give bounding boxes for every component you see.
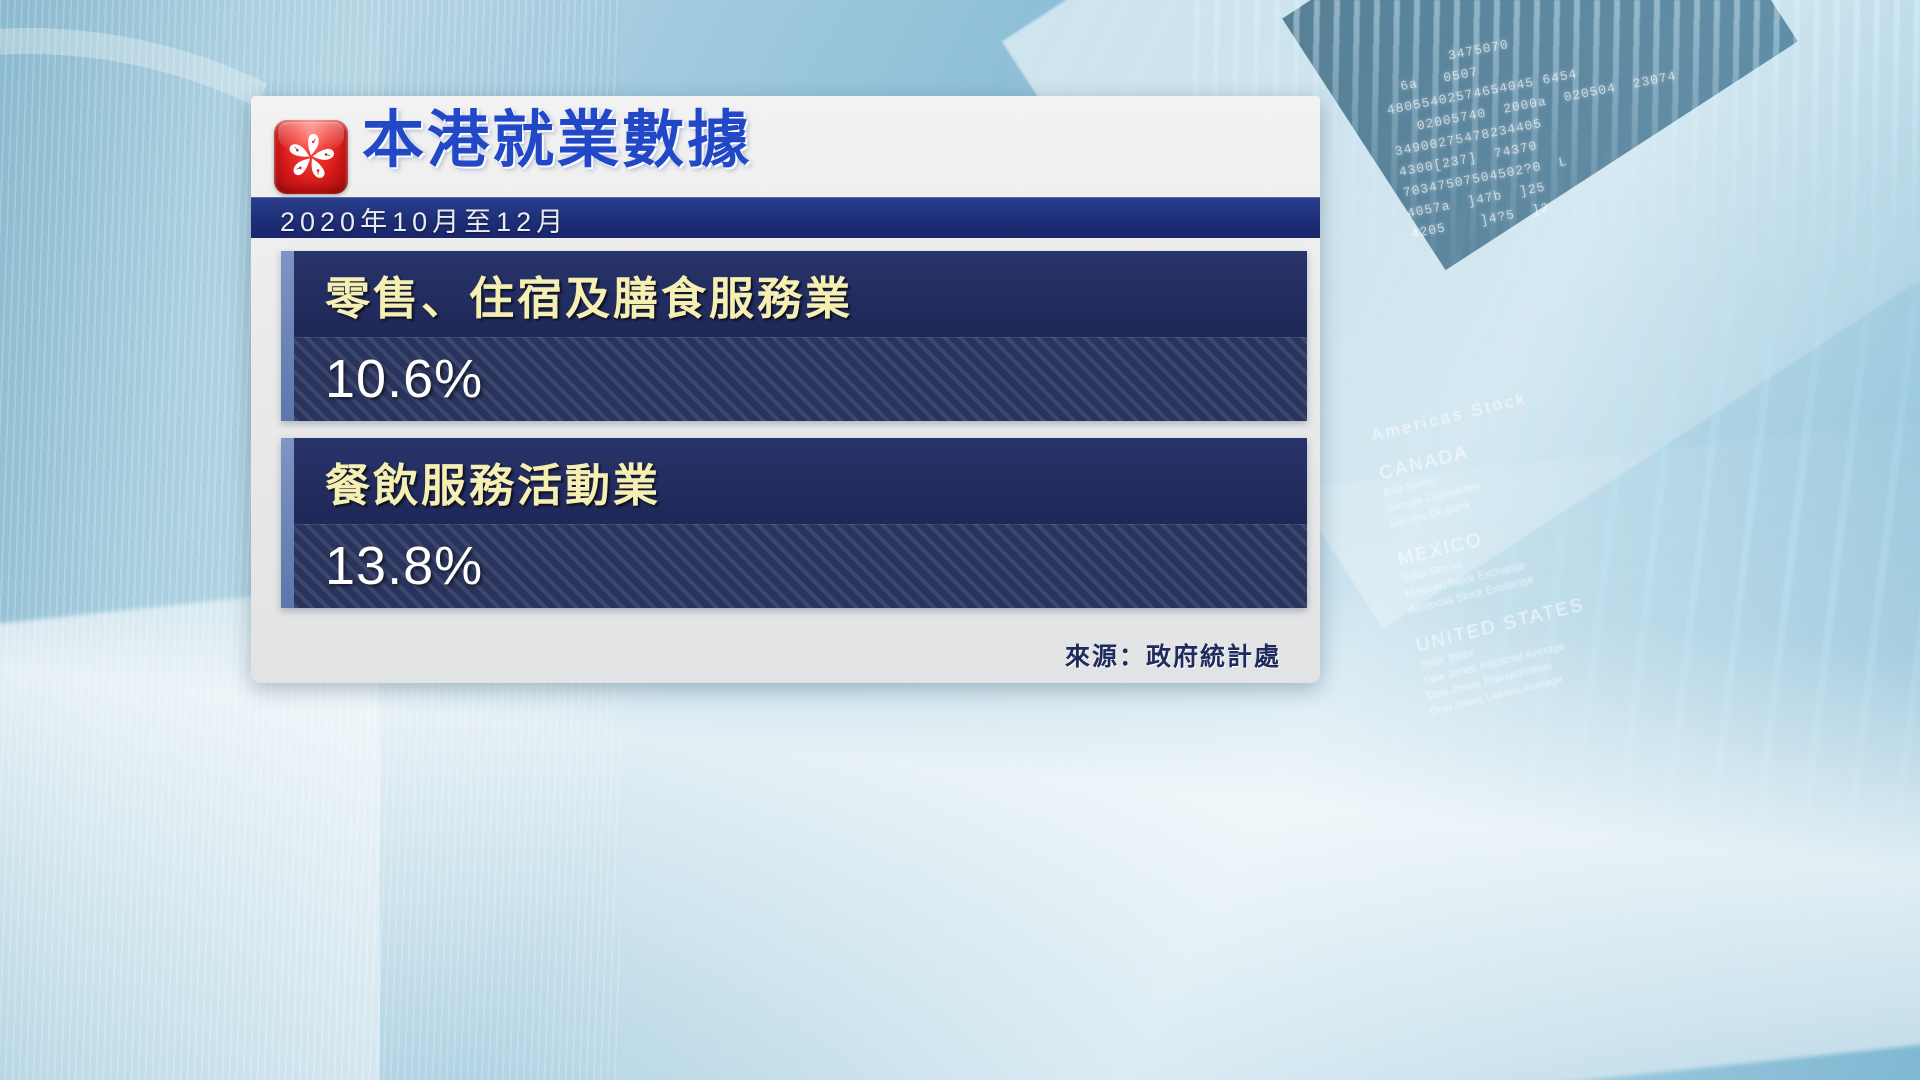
statistics-card: 本港就業數據 2020年10月至12月 零售、住宿及膳食服務業 10.6% 餐飲…: [251, 96, 1320, 683]
statistics-rows: 零售、住宿及膳食服務業 10.6% 餐飲服務活動業 13.8%: [281, 251, 1307, 625]
row-accent-bar: [281, 438, 294, 608]
table-row: 餐飲服務活動業 13.8%: [281, 438, 1307, 608]
card-header: 本港就業數據: [251, 96, 1320, 197]
row-label-text: 零售、住宿及膳食服務業: [294, 262, 853, 327]
row-value-text: 13.8%: [294, 535, 483, 597]
table-row: 零售、住宿及膳食服務業 10.6%: [281, 251, 1307, 421]
period-subtitle: 2020年10月至12月: [280, 200, 568, 239]
row-value-text: 10.6%: [294, 348, 483, 410]
row-label-panel: 餐飲服務活動業: [294, 438, 1307, 524]
row-value-panel: 10.6%: [294, 337, 1307, 421]
subtitle-bar: 2020年10月至12月: [251, 197, 1320, 238]
hong-kong-flag-icon: [274, 120, 348, 194]
row-label-panel: 零售、住宿及膳食服務業: [294, 251, 1307, 337]
news-graphic-stage: 3475070 6a 0507 48055402574654045 6454 0…: [0, 0, 1920, 1080]
page-title: 本港就業數據: [362, 110, 752, 172]
row-accent-bar: [281, 251, 294, 421]
row-value-panel: 13.8%: [294, 524, 1307, 608]
source-attribution: 來源：政府統計處: [1065, 637, 1281, 673]
row-label-text: 餐飲服務活動業: [294, 449, 661, 514]
